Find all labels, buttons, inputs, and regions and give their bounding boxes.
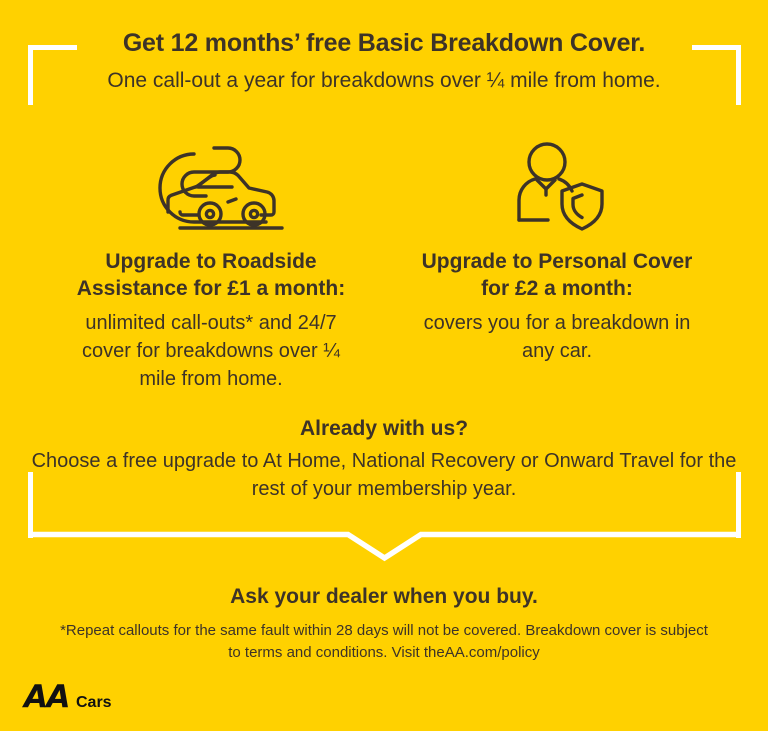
already-with-us-body: Choose a free upgrade to At Home, Nation…: [0, 448, 768, 503]
aa-logo-wordmark: Cars: [76, 695, 112, 711]
footer-call-to-action: Ask your dealer when you buy.: [0, 583, 768, 610]
footer-smallprint: *Repeat callouts for the same fault with…: [0, 620, 768, 663]
aa-cars-logo: AA Cars: [24, 682, 112, 713]
upgrade-column-roadside: Upgrade to Roadside Assistance for £1 a …: [38, 138, 384, 394]
upgrade-columns: Upgrade to Roadside Assistance for £1 a …: [0, 138, 768, 394]
promotional-poster: Get 12 months’ free Basic Breakdown Cove…: [0, 0, 768, 731]
car-on-winding-road-icon: [38, 138, 384, 238]
upgrade-column-personal-body: covers you for a breakdown in any car.: [384, 309, 730, 366]
upgrade-column-personal: Upgrade to Personal Cover for £2 a month…: [384, 138, 730, 365]
footer: Ask your dealer when you buy. *Repeat ca…: [0, 583, 768, 663]
person-with-shield-icon: [384, 138, 730, 238]
upgrade-column-roadside-body: unlimited call-outs* and 24/7 cover for …: [38, 309, 384, 394]
subheadline: One call-out a year for breakdowns over …: [0, 67, 768, 94]
headline: Get 12 months’ free Basic Breakdown Cove…: [0, 28, 768, 59]
header: Get 12 months’ free Basic Breakdown Cove…: [0, 28, 768, 95]
bottom-bracket-notch: [28, 528, 741, 564]
already-with-us-title: Already with us?: [0, 415, 768, 442]
already-with-us-section: Already with us? Choose a free upgrade t…: [0, 415, 768, 503]
aa-logo-mark: AA: [24, 682, 69, 713]
upgrade-column-personal-title: Upgrade to Personal Cover for £2 a month…: [384, 248, 730, 303]
upgrade-column-roadside-title: Upgrade to Roadside Assistance for £1 a …: [38, 248, 384, 303]
